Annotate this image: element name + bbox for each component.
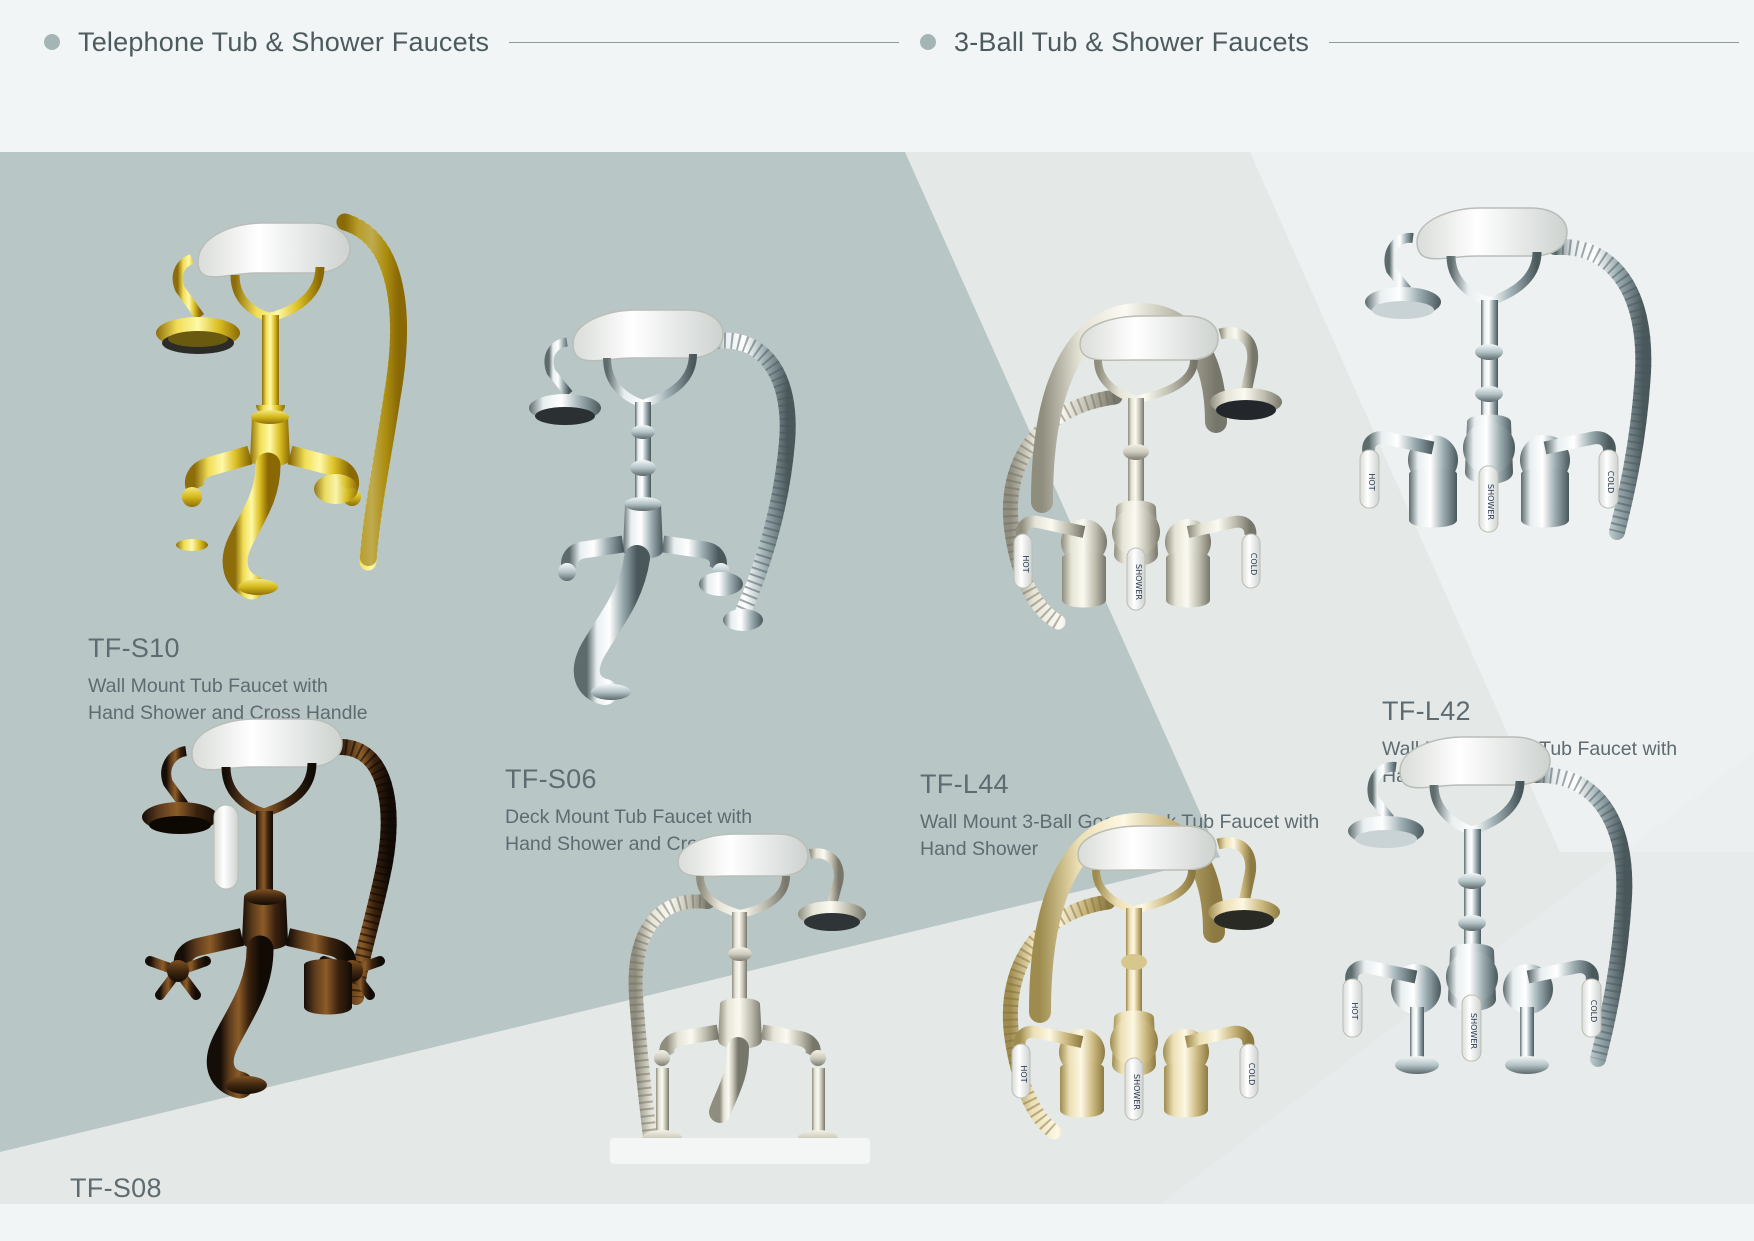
product-image-tf-s09: [600, 782, 890, 1182]
handle-shower: SHOWER: [1462, 995, 1481, 1061]
svg-text:SHOWER: SHOWER: [1486, 484, 1495, 520]
handle-hot: HOT: [1012, 1044, 1030, 1098]
product-image-tf-s10: [140, 167, 420, 597]
product-tf-s08[interactable]: TF-S08 Wall Mount Tub Faucet with Hand S…: [70, 1174, 430, 1204]
svg-text:SHOWER: SHOWER: [1132, 1074, 1141, 1110]
svg-text:SHOWER: SHOWER: [1469, 1013, 1478, 1049]
handle-shower: SHOWER: [1125, 1058, 1143, 1120]
handle-shower: SHOWER: [1479, 466, 1498, 532]
header-group-three-ball: 3-Ball Tub & Shower Faucets: [920, 25, 1739, 59]
handle-shower: SHOWER: [1127, 548, 1145, 610]
page-header: Telephone Tub & Shower Faucets 3-Ball Tu…: [0, 0, 1754, 152]
svg-text:COLD: COLD: [1247, 1063, 1256, 1086]
svg-text:COLD: COLD: [1589, 1000, 1598, 1023]
header-title-telephone: Telephone Tub & Shower Faucets: [78, 27, 489, 58]
product-image-tf-l41: HOT SHOWER COLD: [1340, 707, 1680, 1127]
svg-text:HOT: HOT: [1367, 473, 1376, 490]
svg-text:SHOWER: SHOWER: [1134, 564, 1143, 600]
svg-text:HOT: HOT: [1350, 1002, 1359, 1019]
product-image-tf-l44: HOT SHOWER COLD: [980, 202, 1300, 622]
svg-text:HOT: HOT: [1019, 1065, 1028, 1082]
product-panel: TF-S10 Wall Mount Tub Faucet with Hand S…: [0, 152, 1754, 1204]
bullet-dot-icon: [44, 34, 60, 50]
header-rule-right: [1329, 42, 1739, 43]
product-image-tf-s06: [525, 282, 845, 702]
product-image-tf-l42: HOT SHOWER COLD: [1355, 172, 1695, 592]
handle-hot: HOT: [1014, 534, 1032, 588]
product-image-tf-l43: HOT SHOWER COLD: [980, 722, 1300, 1142]
handle-hot: HOT: [1343, 979, 1362, 1037]
bullet-dot-icon: [920, 34, 936, 50]
handle-cold: COLD: [1240, 1044, 1258, 1098]
page-footer: [0, 1204, 1754, 1241]
header-title-three-ball: 3-Ball Tub & Shower Faucets: [954, 27, 1309, 58]
product-code: TF-S08: [70, 1174, 430, 1204]
handle-cold: COLD: [1582, 979, 1601, 1037]
svg-text:COLD: COLD: [1606, 471, 1615, 494]
handle-cold: COLD: [1599, 450, 1618, 508]
product-code: TF-S10: [88, 634, 428, 664]
catalog-page: Telephone Tub & Shower Faucets 3-Ball Tu…: [0, 0, 1754, 1241]
handle-cold: COLD: [1242, 534, 1260, 588]
svg-text:HOT: HOT: [1021, 555, 1030, 572]
header-group-telephone: Telephone Tub & Shower Faucets: [44, 25, 899, 59]
header-rule-left: [509, 42, 899, 43]
svg-text:COLD: COLD: [1249, 553, 1258, 576]
handle-hot: HOT: [1360, 450, 1379, 508]
product-image-tf-s08: [130, 697, 430, 1117]
